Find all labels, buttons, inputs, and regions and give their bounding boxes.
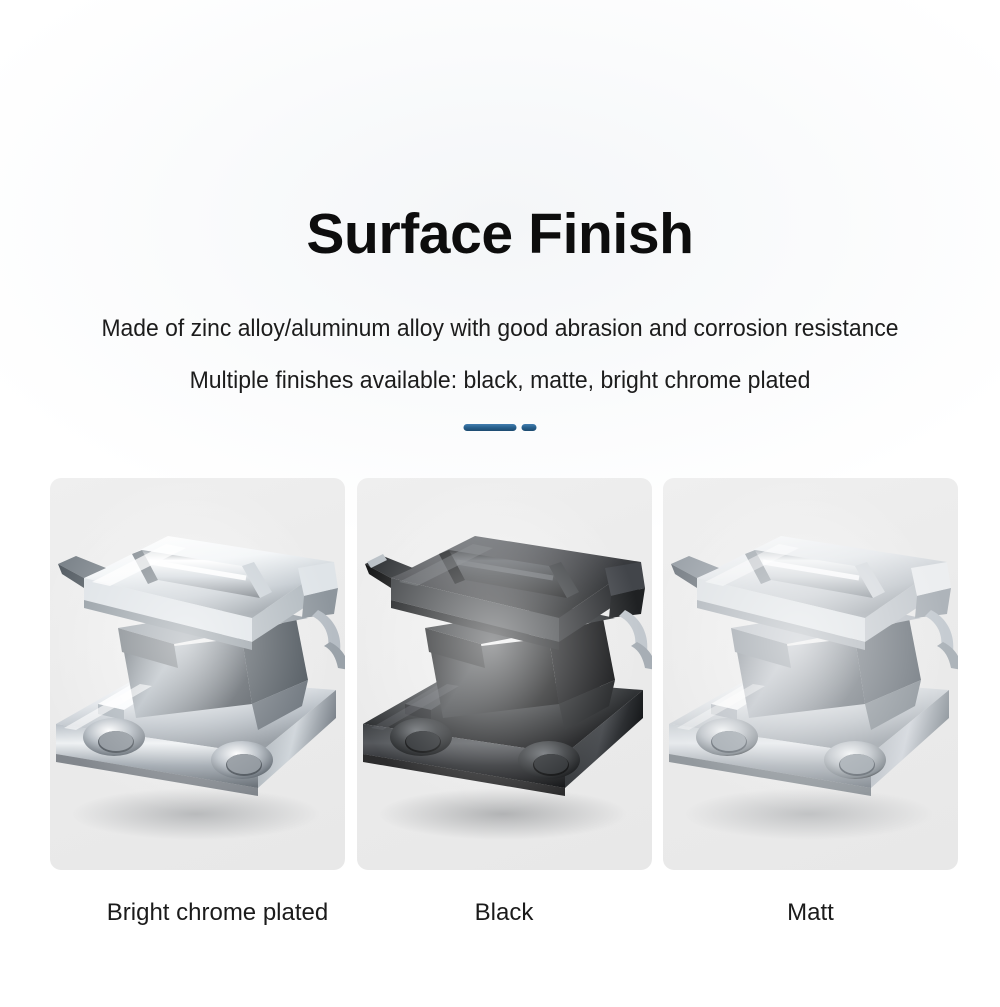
divider-bar-short-icon [522,424,537,431]
divider-bar-long-icon [464,424,517,431]
product-card-black[interactable] [357,478,652,870]
subtitle-line-1: Made of zinc alloy/aluminum alloy with g… [33,315,968,343]
caption-bright-chrome: Bright chrome plated [70,896,365,936]
caption-matt: Matt [663,896,958,936]
page-title: Surface Finish [0,205,1000,265]
product-card-matt[interactable] [663,478,958,870]
product-image-black [357,478,652,870]
section-divider [0,424,1000,436]
hinge-illustration-icon [50,492,345,852]
divider-inner [464,424,537,431]
product-card-row [50,478,958,870]
caption-row: Bright chrome plated Black Matt [50,896,958,936]
hinge-illustration-icon [357,492,652,852]
marketing-page: Surface Finish Made of zinc alloy/alumin… [0,0,1000,1007]
product-image-matt [663,478,958,870]
product-image-bright-chrome [50,478,345,870]
caption-black: Black [357,896,652,936]
product-card-bright-chrome[interactable] [50,478,345,870]
subtitle-line-2: Multiple finishes available: black, matt… [30,367,970,395]
hinge-illustration-icon [663,492,958,852]
